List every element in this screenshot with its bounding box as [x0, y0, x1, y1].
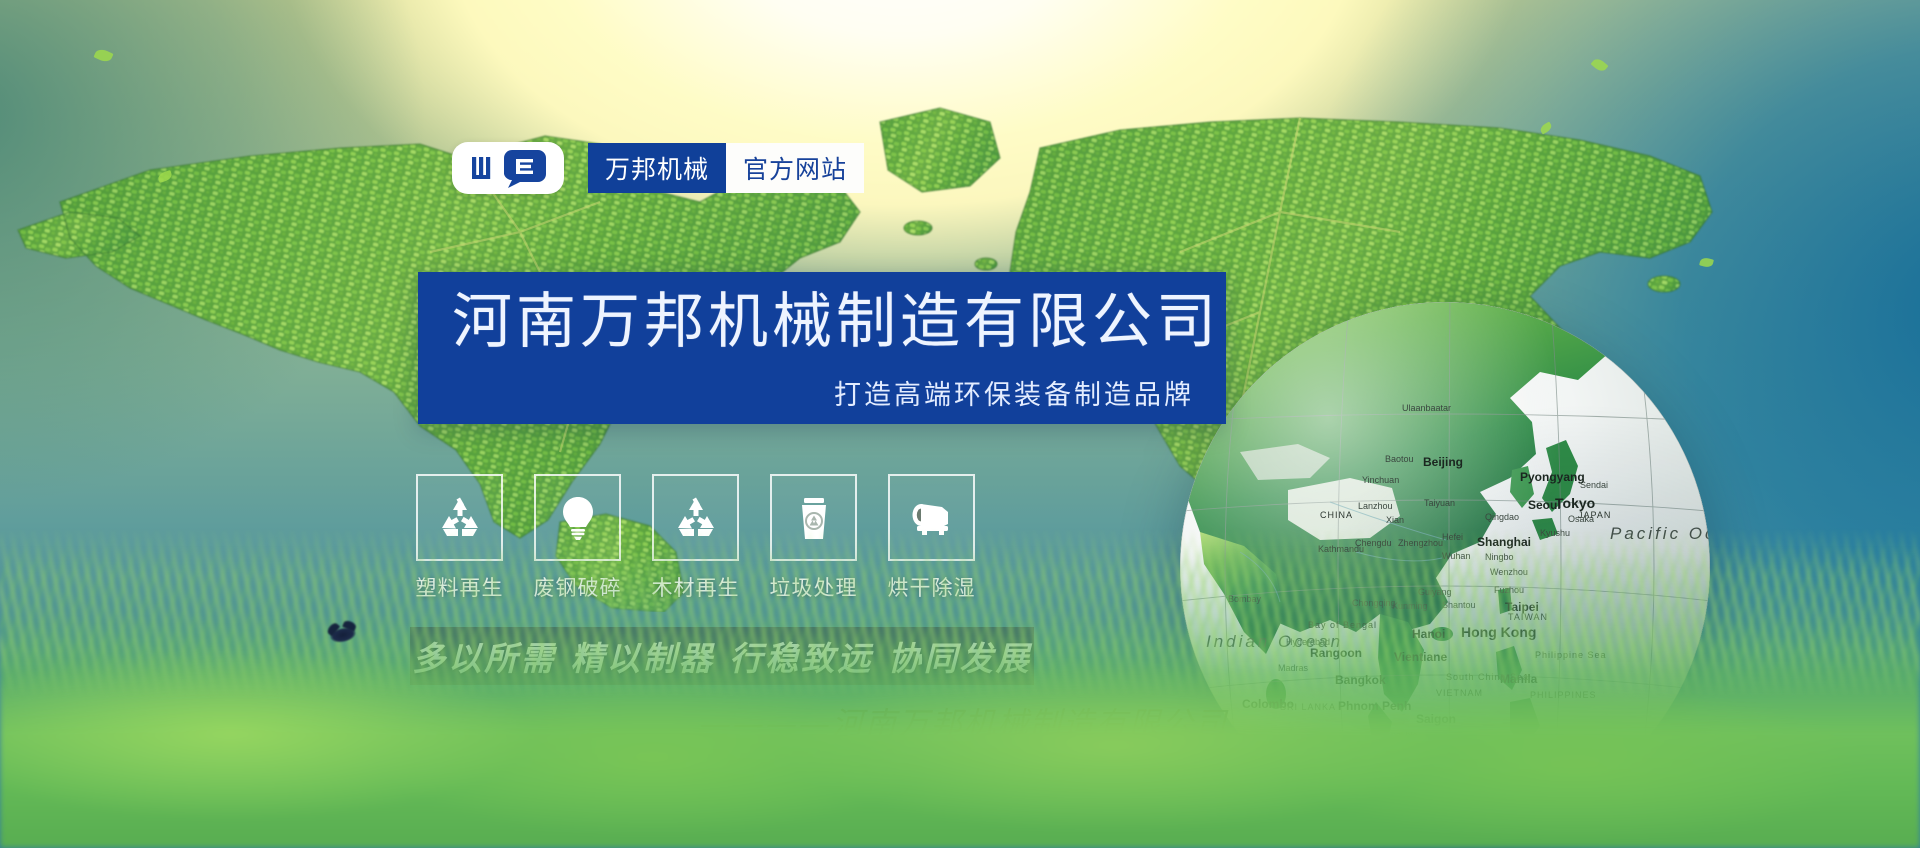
page-title: 河南万邦机械制造有限公司: [452, 289, 1220, 356]
letter-w-icon: [470, 155, 500, 181]
speech-bubble-b-icon: [504, 148, 546, 188]
globe-label: Sendai: [1580, 480, 1608, 490]
globe-label: CHINA: [1320, 510, 1353, 520]
grass-blades: [0, 528, 1920, 698]
globe-label: Lanzhou: [1358, 501, 1393, 511]
wanbang-logo[interactable]: [452, 142, 564, 194]
globe-label: JAPAN: [1578, 510, 1611, 520]
globe-label: Beijing: [1423, 455, 1463, 469]
globe-label: Taiyuan: [1424, 498, 1455, 508]
globe-label: Xian: [1386, 515, 1404, 525]
hero-banner: UlaanbaatarBeijingBaotouYinchuanLanzhouX…: [0, 0, 1920, 848]
hero-title-panel: 河南万邦机械制造有限公司 打造高端环保装备制造品牌: [418, 272, 1226, 424]
header-tabs: 万邦机械 官方网站: [588, 143, 864, 193]
tab-official-site[interactable]: 官方网站: [726, 143, 864, 193]
page-subtitle: 打造高端环保装备制造品牌: [834, 373, 1194, 412]
globe-label: Yinchuan: [1362, 475, 1399, 485]
globe-label: Tokyo: [1555, 495, 1595, 511]
globe-label: Ulaanbaatar: [1402, 403, 1451, 413]
globe-label: Qingdao: [1485, 512, 1519, 522]
globe-label: Pyongyang: [1520, 470, 1585, 484]
site-header: 万邦机械 官方网站: [452, 142, 864, 194]
globe-label: Baotou: [1385, 454, 1414, 464]
tab-wanbang-jixie[interactable]: 万邦机械: [588, 143, 726, 193]
